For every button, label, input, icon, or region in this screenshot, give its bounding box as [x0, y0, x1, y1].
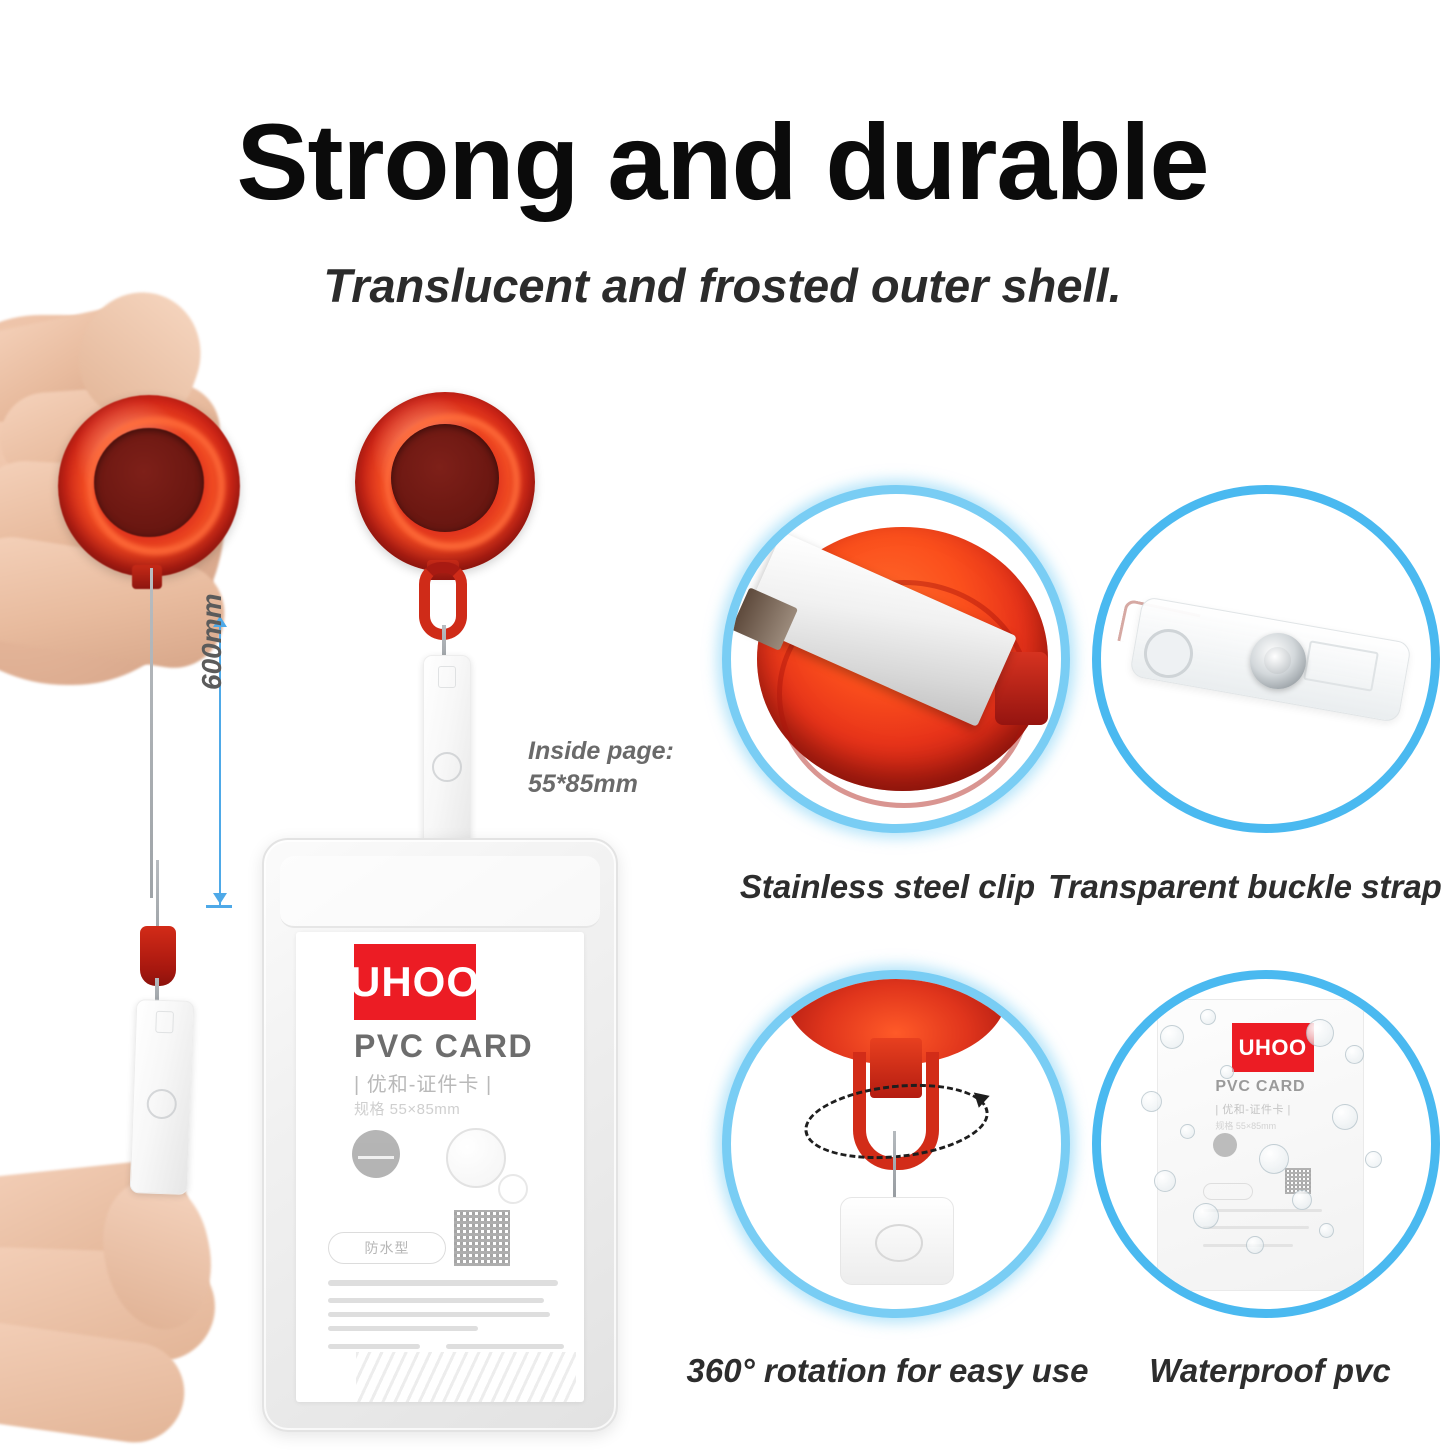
infographic-canvas: Strong and durable Translucent and frost…	[0, 0, 1445, 1445]
uhoo-logo-box: UHOO	[354, 944, 476, 1020]
metal-snap-button	[1250, 633, 1306, 689]
card-text-line	[446, 1344, 564, 1349]
buckle-strap-in-hand	[130, 999, 195, 1195]
card-text-line	[328, 1326, 478, 1331]
dimension-label-cord-length: 600mm	[196, 593, 228, 690]
badge-reel-standalone	[355, 392, 535, 572]
quality-seal-icon-small	[1213, 1133, 1237, 1157]
uhoo-logo-box-small: UHOO	[1232, 1023, 1314, 1072]
waterproof-pill-badge: 防水型	[328, 1232, 446, 1264]
pvc-card-holder: UHOO PVC CARD | 优和-证件卡 | 规格 55×85mm 防水型	[262, 838, 618, 1432]
strap-snap-hole	[146, 1088, 177, 1119]
qr-code	[454, 1210, 510, 1266]
water-droplet	[1200, 1009, 1216, 1025]
quality-seal-icon	[352, 1130, 400, 1178]
security-hatch-pattern	[356, 1352, 576, 1402]
card-text-line	[328, 1280, 558, 1286]
water-droplet	[1319, 1223, 1334, 1238]
water-droplet	[1365, 1151, 1382, 1168]
feature-caption-1: Stainless steel clip	[700, 868, 1075, 906]
card-size-spec: 规格 55×85mm	[354, 1098, 460, 1119]
badge-reel-in-hand	[58, 395, 240, 577]
retractable-cord	[150, 568, 153, 898]
reel-inner-hub	[391, 424, 499, 532]
inner-card: UHOO PVC CARD | 优和-证件卡 | 规格 55×85mm 防水型	[296, 932, 584, 1402]
retractable-cord-lower	[156, 860, 159, 934]
card-text-line	[1203, 1226, 1309, 1229]
chinese-product-name: | 优和-证件卡 |	[354, 1068, 492, 1097]
card-text-line	[328, 1298, 544, 1303]
water-droplet	[1220, 1065, 1234, 1079]
reel-inner-hub	[94, 428, 203, 537]
feature-caption-3: 360° rotation for easy use	[660, 1352, 1115, 1390]
reel-bottom-nub	[132, 565, 162, 589]
uhoo-logo-text: UHOO	[350, 961, 480, 1003]
chinese-product-name-small: | 优和-证件卡 |	[1215, 1101, 1291, 1117]
feature-caption-4: Waterproof pvc	[1105, 1352, 1435, 1390]
strap-snap-hole	[432, 752, 462, 782]
card-text-line	[328, 1344, 420, 1349]
page-title: Strong and durable	[0, 108, 1445, 216]
card-text-line	[328, 1312, 550, 1317]
inside-page-note: Inside page: 55*85mm	[528, 735, 674, 801]
holder-top-lip	[280, 856, 600, 928]
feature-circle-3	[722, 970, 1070, 1318]
feature-circle-4: UHOO PVC CARD | 优和-证件卡 | 规格 55×85mm	[1092, 970, 1440, 1318]
water-droplet	[1141, 1091, 1162, 1112]
rotation-ellipse	[800, 1075, 991, 1167]
strap-base	[840, 1197, 954, 1285]
dimension-arrow-bottom	[213, 893, 227, 904]
bubble-graphic-small	[498, 1174, 528, 1204]
waterproof-pill-badge-small	[1203, 1183, 1253, 1200]
bubble-graphic	[446, 1128, 506, 1188]
red-hook-small	[140, 926, 176, 986]
feature-caption-2: Transparent buckle strap	[1045, 868, 1445, 906]
uhoo-logo-text-small: UHOO	[1239, 1035, 1307, 1061]
feature-circle-1	[722, 485, 1070, 833]
rotation-arrow-icon	[804, 1085, 989, 1158]
dimension-end-cap	[206, 905, 232, 908]
waterproof-pill-label: 防水型	[329, 1233, 445, 1263]
feature-circle-2	[1092, 485, 1440, 833]
pvc-card-label: PVC CARD	[354, 1028, 533, 1065]
strap-slot	[155, 1011, 174, 1034]
card-size-spec-small: 规格 55×85mm	[1215, 1119, 1276, 1132]
pvc-card-label-small: PVC CARD	[1215, 1078, 1363, 1096]
strap-slot	[438, 666, 456, 688]
water-droplet	[1306, 1019, 1334, 1047]
